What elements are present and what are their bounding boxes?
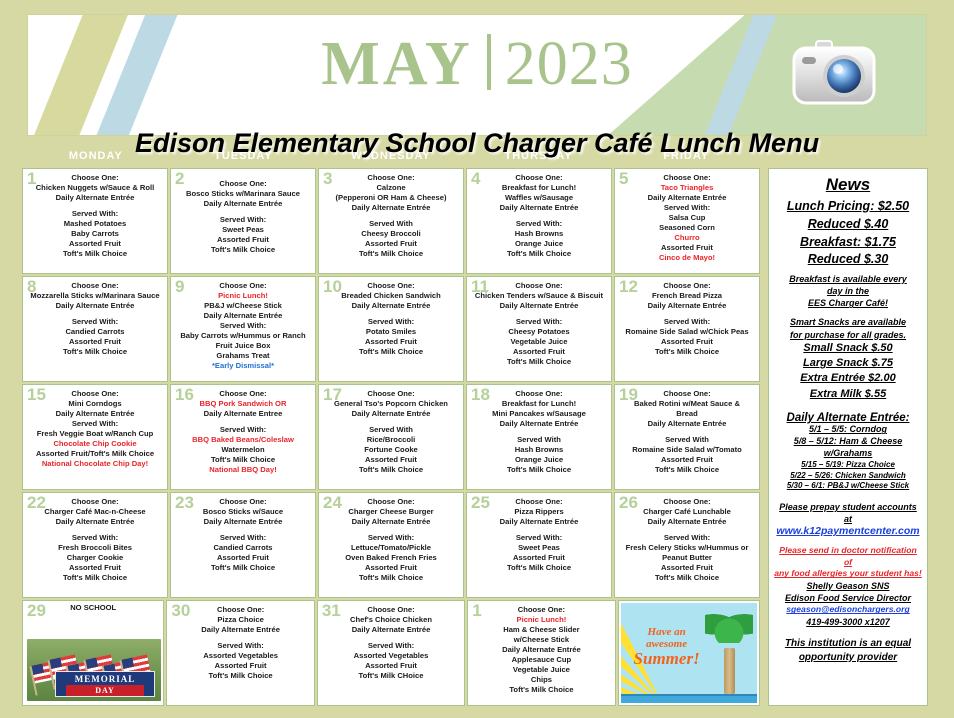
menu-item-list: Choose One:Breakfast for Lunch!Mini Panc…	[470, 388, 608, 475]
allergy-line-2: any food allergies your student has!	[774, 568, 922, 580]
calendar-day-cell[interactable]: 26Choose One:Charger Café LunchableDaily…	[614, 492, 760, 598]
menu-item-line: Served With	[618, 435, 756, 445]
menu-item-line: Fresh Broccoli Bites	[26, 543, 164, 553]
menu-item-line: Vegetable Juice	[471, 665, 611, 675]
menu-item-list: Choose One:General Tso's Popcorn Chicken…	[322, 388, 460, 475]
menu-item-line: Choose One:	[618, 281, 756, 291]
calendar-day-cell[interactable]: 29NO SCHOOLMEMORIALDAY	[22, 600, 164, 706]
calendar-day-cell[interactable]: 30Choose One:Pizza ChoiceDaily Alternate…	[166, 600, 314, 706]
menu-item-line: Served With:	[321, 641, 461, 651]
day-number: 18	[471, 386, 490, 403]
menu-item-list: Choose One:Mini CorndogsDaily Alternate …	[26, 388, 164, 469]
menu-item-line: Served With:	[26, 209, 164, 219]
menu-item-line: Mozzarella Sticks w/Marinara Sauce	[26, 291, 164, 301]
menu-item-line: Cheesy Broccoli	[322, 229, 460, 239]
day-number: 9	[175, 278, 184, 295]
alt-entree-week-2-cont: w/Grahams	[774, 448, 922, 460]
menu-item-line: Toft's Milk Choice	[322, 465, 460, 475]
menu-item-line: (Pepperoni OR Ham & Cheese)	[322, 193, 460, 203]
menu-item-list: Choose One:Picnic Lunch!Ham & Cheese Sli…	[471, 604, 611, 695]
menu-item-line: Choose One:	[618, 497, 756, 507]
menu-item-line: Choose One:	[26, 497, 164, 507]
menu-item-line: Baby Carrots	[26, 229, 164, 239]
calendar-day-cell[interactable]: 11Choose One:Chicken Tenders w/Sauce & B…	[466, 276, 612, 382]
day-number: 12	[619, 278, 638, 295]
menu-item-line: Choose One:	[174, 389, 312, 399]
menu-item-line: Chicken Tenders w/Sauce & Biscuit	[470, 291, 608, 301]
menu-item-line: Toft's Milk Choice	[618, 347, 756, 357]
menu-item-line: Toft's Milk Choice	[470, 563, 608, 573]
menu-item-line: Served With:	[618, 203, 756, 213]
breakfast-note-line-3: EES Charger Café!	[774, 297, 922, 309]
menu-item-line: Toft's Milk Choice	[174, 455, 312, 465]
menu-item-line: Daily Alternate Entrée	[174, 311, 312, 321]
memorial-day-banner: MEMORIALDAY	[55, 671, 155, 697]
menu-item-line: Served With	[470, 435, 608, 445]
day-number: 1	[27, 170, 36, 187]
calendar-day-cell[interactable]: 25Choose One:Pizza RippersDaily Alternat…	[466, 492, 612, 598]
menu-item-line: Choose One:	[470, 281, 608, 291]
menu-item-line: Served With:	[322, 317, 460, 327]
menu-item-line: Toft's Milk Choice	[174, 563, 312, 573]
menu-item-line: Daily Alternate Entrée	[174, 199, 312, 209]
menu-item-line: Daily Alternate Entrée	[26, 409, 164, 419]
menu-item-line: Served With:	[26, 419, 164, 429]
menu-item-line: Toft's Milk Choice	[174, 245, 312, 255]
calendar-day-cell[interactable]: 16Choose One:BBQ Pork Sandwich ORDaily A…	[170, 384, 316, 490]
calendar-week-row: 22Choose One:Charger Café Mac-n-CheeseDa…	[22, 492, 760, 598]
day-number: 24	[323, 494, 342, 511]
menu-item-line: Choose One:	[170, 605, 310, 615]
menu-item-line: Calzone	[322, 183, 460, 193]
day-number: 25	[471, 494, 490, 511]
menu-item-list: Choose One:Breakfast for Lunch!Waffles w…	[470, 172, 608, 259]
news-title: News	[774, 175, 922, 195]
menu-item-list: Choose One:Charger Cheese BurgerDaily Al…	[322, 496, 460, 583]
menu-item-line: Fruit Juice Box	[174, 341, 312, 351]
menu-item-line: Choose One:	[470, 497, 608, 507]
menu-item-line: Choose One:	[174, 497, 312, 507]
menu-item-list: Choose One:French Bread PizzaDaily Alter…	[618, 280, 756, 357]
calendar-day-cell[interactable]: 31Choose One:Chef's Choice ChickenDaily …	[317, 600, 465, 706]
menu-item-line: Assorted Fruit	[618, 337, 756, 347]
menu-item-list: Choose One:Bosco Sticks w/SauceDaily Alt…	[174, 496, 312, 573]
memorial-day-word: DAY	[66, 685, 144, 696]
menu-item-line: Assorted Fruit	[618, 243, 756, 253]
menu-item-line: Romaine Side Salad w/Tomato	[618, 445, 756, 455]
calendar-week-row: 29NO SCHOOLMEMORIALDAY30Choose One:Pizza…	[22, 600, 760, 706]
news-panel: News Lunch Pricing: $2.50 Reduced $.40 B…	[768, 168, 928, 706]
menu-item-list: Choose One:Picnic Lunch!PB&J w/Cheese St…	[174, 280, 312, 371]
smart-snacks-note: Smart Snacks are available for purchase …	[774, 316, 922, 340]
menu-item-line: National BBQ Day!	[174, 465, 312, 475]
menu-item-line: Charger Café Lunchable	[618, 507, 756, 517]
menu-item-line: Applesauce Cup	[471, 655, 611, 665]
menu-item-line: Toft's Milk Choice	[470, 357, 608, 367]
calendar-day-cell[interactable]: 9Choose One:Picnic Lunch!PB&J w/Cheese S…	[170, 276, 316, 382]
calendar-day-cell[interactable]: 2Have anawesomeSummer!	[618, 600, 760, 706]
menu-item-line: Daily Alternate Entrée	[26, 193, 164, 203]
menu-item-line: Grahams Treat	[174, 351, 312, 361]
menu-item-line: Ham & Cheese Slider	[471, 625, 611, 635]
menu-item-line: Daily Alternate Entrée	[322, 517, 460, 527]
menu-item-line: Cinco de Mayo!	[618, 253, 756, 263]
menu-item-line: Served With:	[470, 533, 608, 543]
menu-item-line: Chef's Choice Chicken	[321, 615, 461, 625]
menu-item-line: Chocolate Chip Cookie	[26, 439, 164, 449]
menu-item-line: Bread	[618, 409, 756, 419]
menu-item-line: Assorted Fruit	[26, 239, 164, 249]
menu-item-line: Daily Alternate Entrée	[174, 517, 312, 527]
banner-year: 2023	[505, 30, 633, 98]
menu-item-line: Churro	[618, 233, 756, 243]
banner-month: MAY	[321, 30, 472, 98]
menu-item-line: Daily Alternate Entrée	[618, 193, 756, 203]
equal-opportunity-notice: This institution is an equal opportunity…	[774, 637, 922, 664]
menu-item-line: Toft's Milk Choice	[26, 249, 164, 259]
memorial-word: MEMORIAL	[75, 674, 136, 684]
news-price-lunch: Lunch Pricing: $2.50	[774, 198, 922, 216]
menu-item-line: Served With:	[170, 641, 310, 651]
menu-item-line: Choose One:	[470, 389, 608, 399]
menu-item-list: Choose One:Pizza ChoiceDaily Alternate E…	[170, 604, 310, 681]
menu-item-line: Toft's Milk Choice	[170, 671, 310, 681]
menu-item-line: Toft's Milk Choice	[26, 573, 164, 583]
menu-item-line: Fortune Cooke	[322, 445, 460, 455]
day-number: 15	[27, 386, 46, 403]
day-number: 8	[27, 278, 36, 295]
menu-item-line: Served With:	[26, 533, 164, 543]
menu-item-line: National Chocolate Chip Day!	[26, 459, 164, 469]
calendar-grid: 1Choose One:Chicken Nuggets w/Sauce & Ro…	[22, 168, 760, 706]
snack-price-extra-milk: Extra Milk $.55	[774, 387, 922, 402]
menu-item-line: Toft's Milk Choice	[618, 573, 756, 583]
menu-item-line: Assorted Fruit	[322, 455, 460, 465]
menu-item-line: Toft's Milk Choice	[470, 249, 608, 259]
day-number: 10	[323, 278, 342, 295]
menu-item-list: Choose One:BBQ Pork Sandwich ORDaily Alt…	[174, 388, 312, 475]
summer-line-1: Have an	[627, 627, 707, 639]
menu-item-line: Daily Alternate Entrée	[322, 203, 460, 213]
day-number: 26	[619, 494, 638, 511]
header-banner: MAY2023	[27, 14, 927, 136]
calendar-day-cell[interactable]: 2Choose One:Bosco Sticks w/Marinara Sauc…	[170, 168, 316, 274]
menu-item-line: Assorted Fruit	[470, 553, 608, 563]
menu-item-line: Served With:	[470, 219, 608, 229]
menu-item-line: Romaine Side Salad w/Chick Peas	[618, 327, 756, 337]
banner-divider	[487, 34, 491, 90]
menu-item-line: Toft's Milk Choice	[26, 347, 164, 357]
menu-item-line: Bosco Sticks w/Marinara Sauce	[174, 189, 312, 199]
equal-line-2: opportunity provider	[774, 651, 922, 665]
menu-item-line: Assorted Vegetables	[321, 651, 461, 661]
menu-item-line: Sweet Peas	[174, 225, 312, 235]
menu-item-line: Seasoned Corn	[618, 223, 756, 233]
menu-item-line: Assorted Fruit	[322, 337, 460, 347]
menu-item-line: Choose One:	[26, 389, 164, 399]
menu-item-line: Hash Browns	[470, 229, 608, 239]
menu-item-line: Assorted Fruit	[618, 563, 756, 573]
menu-item-line: Served With:	[26, 317, 164, 327]
calendar-day-cell[interactable]: 1Choose One:Chicken Nuggets w/Sauce & Ro…	[22, 168, 168, 274]
menu-item-list: Choose One:Chicken Tenders w/Sauce & Bis…	[470, 280, 608, 367]
menu-item-line: Lettuce/Tomato/Pickle	[322, 543, 460, 553]
menu-item-line: Daily Alternate Entrée	[26, 517, 164, 527]
menu-item-line: Candied Carrots	[174, 543, 312, 553]
menu-item-line: Fresh Celery Sticks w/Hummus or	[618, 543, 756, 553]
calendar-day-cell[interactable]: 23Choose One:Bosco Sticks w/SauceDaily A…	[170, 492, 316, 598]
day-number: 16	[175, 386, 194, 403]
menu-item-line: Assorted Fruit	[470, 347, 608, 357]
calendar-day-cell[interactable]: 10Choose One:Breaded Chicken SandwichDai…	[318, 276, 464, 382]
day-number: 5	[619, 170, 628, 187]
menu-item-line: Chips	[471, 675, 611, 685]
alt-entree-week-4: 5/22 – 5/26: Chicken Sandwich	[774, 471, 922, 482]
menu-item-line: Assorted Vegetables	[170, 651, 310, 661]
prepay-note: Please prepay student accounts at	[774, 501, 922, 525]
menu-item-line: Served With:	[174, 321, 312, 331]
menu-item-line: Vegetable Juice	[470, 337, 608, 347]
menu-item-line: Cheesy Potatoes	[470, 327, 608, 337]
equal-line-1: This institution is an equal	[774, 637, 922, 651]
camera-icon	[790, 35, 878, 113]
menu-item-line: Served With:	[470, 317, 608, 327]
allergy-notice: Please send in doctor notification of an…	[774, 545, 922, 580]
menu-item-list: Choose One:Pizza RippersDaily Alternate …	[470, 496, 608, 573]
summer-graphic: Have anawesomeSummer!	[621, 603, 757, 703]
menu-item-line: Assorted Fruit	[174, 235, 312, 245]
menu-item-list: Choose One:Baked Rotini w/Meat Sauce &Br…	[618, 388, 756, 475]
memorial-day-image: MEMORIALDAY	[27, 639, 161, 701]
menu-item-line: Daily Alternate Entrée	[322, 409, 460, 419]
menu-item-line: Daily Alternate Entrée	[470, 419, 608, 429]
calendar-week-row: 1Choose One:Chicken Nuggets w/Sauce & Ro…	[22, 168, 760, 274]
menu-item-line: Charger Cheese Burger	[322, 507, 460, 517]
day-number: 30	[171, 602, 190, 619]
menu-item-line: Daily Alternate Entrée	[618, 301, 756, 311]
calendar-day-cell[interactable]: 1Choose One:Picnic Lunch!Ham & Cheese Sl…	[467, 600, 615, 706]
menu-item-line: Sweet Peas	[470, 543, 608, 553]
menu-item-line: Picnic Lunch!	[471, 615, 611, 625]
day-number: 4	[471, 170, 480, 187]
menu-item-line: Served With:	[618, 533, 756, 543]
day-number: 17	[323, 386, 342, 403]
menu-item-line: Assorted Fruit	[322, 563, 460, 573]
summer-message: Have anawesomeSummer!	[627, 627, 707, 668]
breakfast-note-line-1: Breakfast is available every	[774, 273, 922, 285]
news-price-breakfast-reduced: Reduced $.30	[774, 251, 922, 269]
day-number: 11	[471, 278, 489, 295]
menu-item-line: Peanut Butter	[618, 553, 756, 563]
menu-item-line: Candied Carrots	[26, 327, 164, 337]
calendar-week-row: 8Choose One:Mozzarella Sticks w/Marinara…	[22, 276, 760, 382]
menu-item-line: Choose One:	[322, 281, 460, 291]
menu-item-line: Choose One:	[471, 605, 611, 615]
alt-entree-week-2: 5/8 – 5/12: Ham & Cheese	[774, 436, 922, 448]
menu-item-line: Oven Baked French Fries	[322, 553, 460, 563]
menu-item-line: Choose One:	[174, 281, 312, 291]
menu-item-line: Bosco Sticks w/Sauce	[174, 507, 312, 517]
water-strip	[621, 694, 757, 703]
menu-item-list: Choose One:Taco TrianglesDaily Alternate…	[618, 172, 756, 263]
menu-item-line: Toft's Milk Choice	[470, 465, 608, 475]
menu-item-list: Choose One:Calzone(Pepperoni OR Ham & Ch…	[322, 172, 460, 259]
calendar-day-cell[interactable]: 15Choose One:Mini CorndogsDaily Alternat…	[22, 384, 168, 490]
breakfast-note-line-2: day in the	[774, 285, 922, 297]
snack-price-extra-entree: Extra Entrée $2.00	[774, 371, 922, 386]
menu-item-line: Assorted Fruit	[321, 661, 461, 671]
menu-item-line: Served With:	[618, 317, 756, 327]
menu-item-line: Choose One:	[321, 605, 461, 615]
menu-item-line: Daily Alternate Entree	[174, 409, 312, 419]
alt-entree-week-3: 5/15 – 5/19: Pizza Choice	[774, 460, 922, 471]
menu-item-line: Daily Alternate Entrée	[470, 517, 608, 527]
summer-line-3: Summer!	[627, 650, 707, 668]
menu-item-line: Choose One:	[26, 173, 164, 183]
menu-item-line: Mashed Potatoes	[26, 219, 164, 229]
page-title: Edison Elementary School Charger Café Lu…	[0, 128, 954, 159]
contact-name: Shelly Geason SNS	[774, 580, 922, 592]
menu-item-line: Assorted Fruit	[174, 553, 312, 563]
news-price-lunch-reduced: Reduced $.40	[774, 216, 922, 234]
day-number: 19	[619, 386, 638, 403]
menu-item-line: Potato Smiles	[322, 327, 460, 337]
menu-item-line: Mini Corndogs	[26, 399, 164, 409]
day-number: 3	[323, 170, 332, 187]
menu-item-line: w/Cheese Stick	[471, 635, 611, 645]
menu-item-line: BBQ Pork Sandwich OR	[174, 399, 312, 409]
snack-price-large: Large Snack $.75	[774, 356, 922, 371]
day-number: 23	[175, 494, 194, 511]
menu-item-line: Choose One:	[322, 173, 460, 183]
payment-center-link[interactable]: www.k12paymentcenter.com	[774, 525, 922, 537]
menu-item-line: Choose One:	[322, 389, 460, 399]
menu-item-line: Chicken Nuggets w/Sauce & Roll	[26, 183, 164, 193]
menu-item-line: Baby Carrots w/Hummus or Ranch	[174, 331, 312, 341]
menu-item-line: Charger Cookie	[26, 553, 164, 563]
menu-item-line: PB&J w/Cheese Stick	[174, 301, 312, 311]
menu-item-line: Choose One:	[26, 281, 164, 291]
menu-item-line: Toft's Milk Choice	[322, 573, 460, 583]
menu-item-list: Choose One:Chicken Nuggets w/Sauce & Rol…	[26, 172, 164, 259]
menu-item-line: *Early Dismissal*	[174, 361, 312, 371]
menu-item-line: Choose One:	[174, 179, 312, 189]
menu-item-line: Daily Alternate Entrée	[471, 645, 611, 655]
menu-item-line: Orange Juice	[470, 455, 608, 465]
day-number: 1	[472, 602, 481, 619]
menu-item-line: Served With:	[174, 425, 312, 435]
daily-alternate-entree-title: Daily Alternate Entrée:	[774, 412, 922, 424]
menu-item-line: Served With:	[322, 533, 460, 543]
menu-item-line: Charger Café Mac-n-Cheese	[26, 507, 164, 517]
menu-item-line: Pizza Choice	[170, 615, 310, 625]
menu-item-line: Daily Alternate Entrée	[322, 301, 460, 311]
menu-item-line: Picnic Lunch!	[174, 291, 312, 301]
calendar-day-cell[interactable]: 18Choose One:Breakfast for Lunch!Mini Pa…	[466, 384, 612, 490]
contact-title: Edison Food Service Director	[774, 592, 922, 604]
calendar-day-cell[interactable]: 19Choose One:Baked Rotini w/Meat Sauce &…	[614, 384, 760, 490]
calendar-day-cell[interactable]: 8Choose One:Mozzarella Sticks w/Marinara…	[22, 276, 168, 382]
alt-entree-week-5: 5/30 – 6/1: PB&J w/Cheese Stick	[774, 481, 922, 492]
menu-item-line: Toft's Milk Choice	[618, 465, 756, 475]
allergy-line-1: Please send in doctor notification of	[774, 545, 922, 568]
palm-leaves-icon	[705, 609, 753, 643]
day-number: 2	[175, 170, 184, 187]
menu-item-list: Choose One:Breaded Chicken SandwichDaily…	[322, 280, 460, 357]
menu-item-line: Daily Alternate Entrée	[170, 625, 310, 635]
menu-item-line: Served With:	[174, 533, 312, 543]
calendar-week-row: 15Choose One:Mini CorndogsDaily Alternat…	[22, 384, 760, 490]
menu-item-list: Choose One:Bosco Sticks w/Marinara Sauce…	[174, 172, 312, 255]
snacks-note-line-1: Smart Snacks are available	[774, 316, 922, 328]
menu-item-line: Daily Alternate Entrée	[321, 625, 461, 635]
menu-item-line: Pizza Rippers	[470, 507, 608, 517]
menu-item-line: General Tso's Popcorn Chicken	[322, 399, 460, 409]
day-number: 31	[322, 602, 341, 619]
menu-item-list: Choose One:Mozzarella Sticks w/Marinara …	[26, 280, 164, 357]
calendar-day-cell[interactable]: 12Choose One:French Bread PizzaDaily Alt…	[614, 276, 760, 382]
contact-phone: 419-499-3000 x1207	[774, 616, 922, 628]
calendar-day-cell[interactable]: 22Choose One:Charger Café Mac-n-CheeseDa…	[22, 492, 168, 598]
menu-item-line: BBQ Baked Beans/Coleslaw	[174, 435, 312, 445]
menu-item-line: Served With	[322, 219, 460, 229]
day-number: 22	[27, 494, 46, 511]
menu-item-line: Toft's Milk Choice	[322, 347, 460, 357]
menu-item-list: Choose One:Chef's Choice ChickenDaily Al…	[321, 604, 461, 681]
news-price-breakfast: Breakfast: $1.75	[774, 234, 922, 252]
menu-item-line: Served With	[322, 425, 460, 435]
menu-item-line: Orange Juice	[470, 239, 608, 249]
snack-price-small: Small Snack $.50	[774, 341, 922, 356]
menu-item-line: Assorted Fruit	[26, 563, 164, 573]
calendar-day-cell[interactable]: 24Choose One:Charger Cheese BurgerDaily …	[318, 492, 464, 598]
menu-item-line: Baked Rotini w/Meat Sauce &	[618, 399, 756, 409]
palm-trunk-icon	[724, 648, 735, 694]
calendar-day-cell[interactable]: 5Choose One:Taco TrianglesDaily Alternat…	[614, 168, 760, 274]
menu-item-line: Waffles w/Sausage	[470, 193, 608, 203]
menu-item-line: Assorted Fruit	[170, 661, 310, 671]
menu-item-line: Hash Browns	[470, 445, 608, 455]
breakfast-availability-note: Breakfast is available every day in the …	[774, 273, 922, 309]
menu-item-line: French Bread Pizza	[618, 291, 756, 301]
menu-item-line: Assorted Fruit/Toft's Milk Choice	[26, 449, 164, 459]
menu-item-line: Watermelon	[174, 445, 312, 455]
menu-item-line: Mini Pancakes w/Sausage	[470, 409, 608, 419]
menu-item-line: Fresh Veggie Boat w/Ranch Cup	[26, 429, 164, 439]
menu-item-line: Choose One:	[618, 173, 756, 183]
snacks-note-line-2: for purchase for all grades.	[774, 329, 922, 341]
menu-item-line: Assorted Fruit	[322, 239, 460, 249]
menu-item-line: Salsa Cup	[618, 213, 756, 223]
menu-item-list: Choose One:Charger Café LunchableDaily A…	[618, 496, 756, 583]
calendar-day-cell[interactable]: 4Choose One:Breakfast for Lunch!Waffles …	[466, 168, 612, 274]
menu-item-line: Daily Alternate Entrée	[26, 301, 164, 311]
menu-item-line: Choose One:	[322, 497, 460, 507]
contact-email-link[interactable]: sgeason@edisonchargers.org	[774, 604, 922, 616]
calendar-day-cell[interactable]: 3Choose One:Calzone(Pepperoni OR Ham & C…	[318, 168, 464, 274]
menu-item-line: Daily Alternate Entrée	[618, 419, 756, 429]
menu-item-list: Choose One:Charger Café Mac-n-CheeseDail…	[26, 496, 164, 583]
menu-item-line: Assorted Fruit	[26, 337, 164, 347]
day-number: 29	[27, 602, 46, 619]
menu-item-line: Toft's Milk CHoice	[321, 671, 461, 681]
calendar-day-cell[interactable]: 17Choose One:General Tso's Popcorn Chick…	[318, 384, 464, 490]
menu-item-line: Served With:	[174, 215, 312, 225]
menu-item-line: Assorted Fruit	[618, 455, 756, 465]
menu-item-line: Rice/Broccoli	[322, 435, 460, 445]
menu-item-line: Choose One:	[618, 389, 756, 399]
menu-item-line: Breakfast for Lunch!	[470, 183, 608, 193]
